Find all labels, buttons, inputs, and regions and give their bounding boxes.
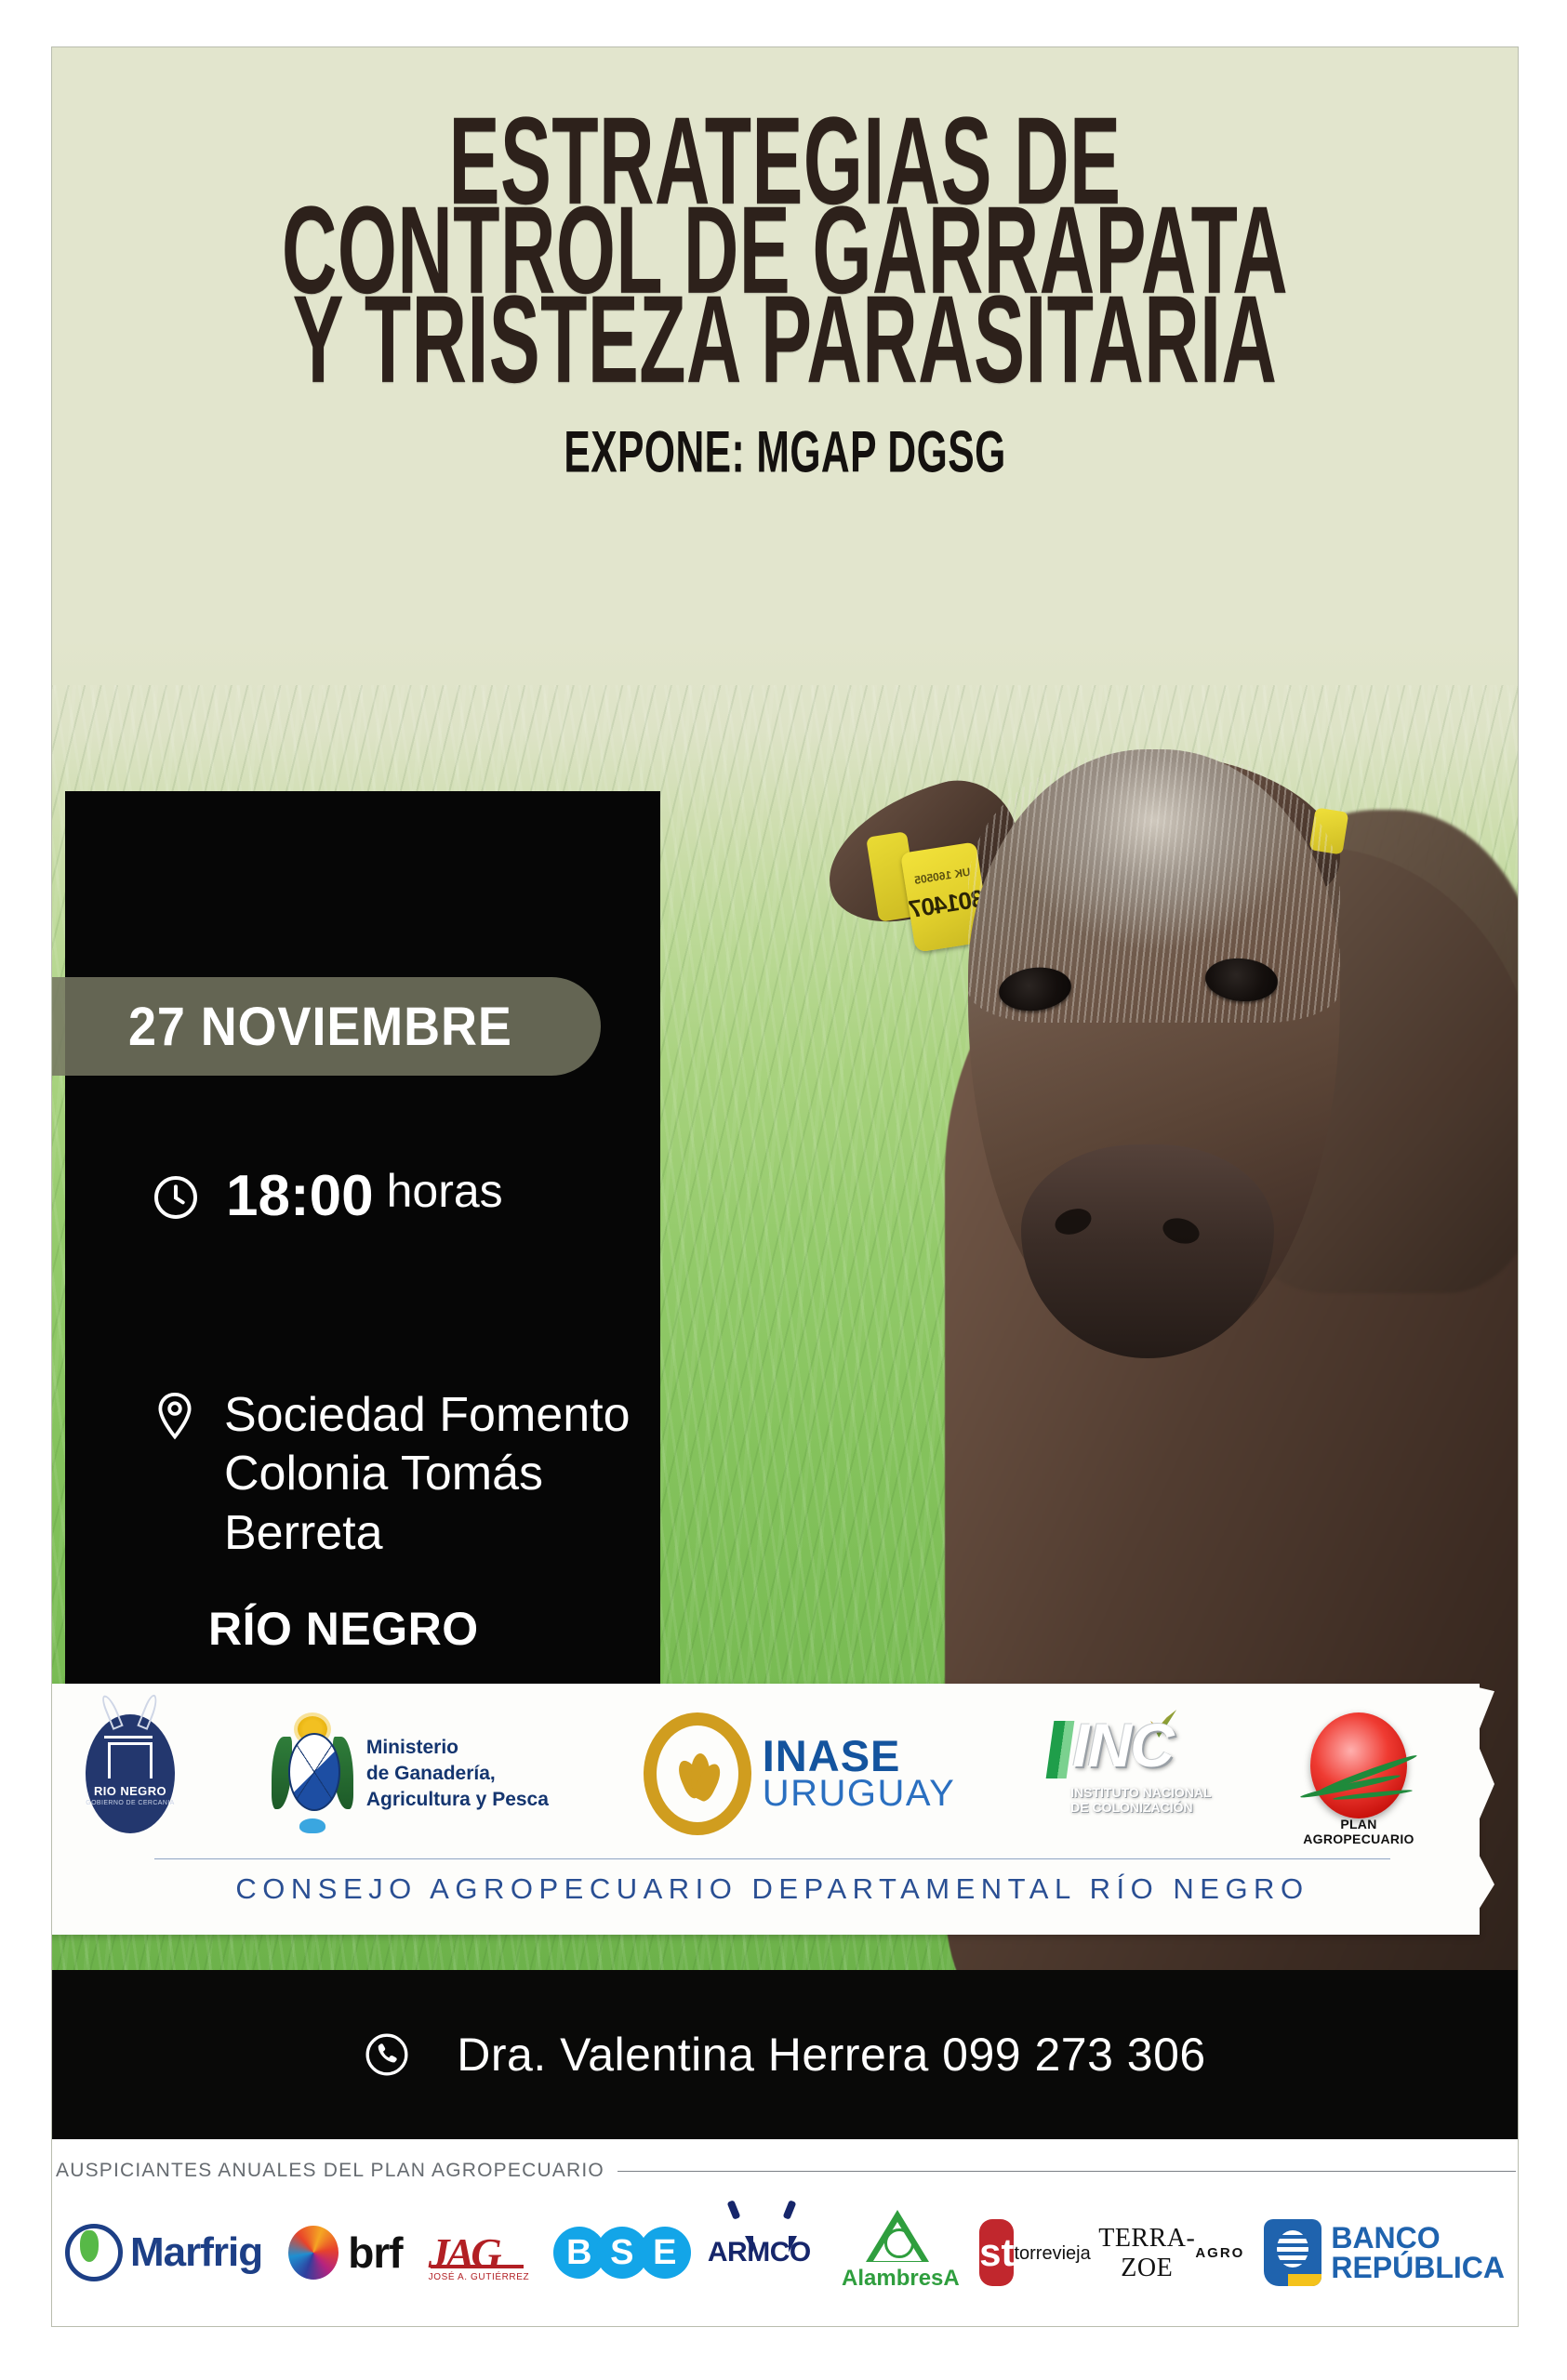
building-icon (108, 1742, 153, 1778)
council-caption: CONSEJO AGROPECUARIO DEPARTAMENTAL RÍO N… (154, 1858, 1390, 1906)
marfrig-icon (65, 2224, 123, 2281)
plan-agropecuario-label: PLAN AGROPECUARIO (1294, 1817, 1424, 1846)
marfrig-label: Marfrig (130, 2229, 262, 2276)
torrevieja-icon: st (979, 2219, 1014, 2286)
mgap-line-3: Agricultura y Pesca (366, 1787, 549, 1813)
inase-line-1: INASE (763, 1736, 956, 1777)
rio-negro-label: RIO NEGRO (94, 1784, 166, 1798)
clock-icon (150, 1171, 202, 1228)
armco-tick-right-icon (782, 2200, 796, 2220)
jag-label: JAG (429, 2228, 498, 2278)
sponsor-banco-republica: BANCO REPÚBLICA (1264, 2219, 1505, 2286)
banco-republica-icon (1264, 2219, 1321, 2286)
sponsor-logo-row: Marfrig brf JAG JOSÉ A. GUTIÉRREZ B S E … (65, 2197, 1505, 2308)
brou-line-1: BANCO (1331, 2221, 1440, 2254)
horn-left-icon (100, 1693, 123, 1730)
logo-plan-agropecuario: PLAN AGROPECUARIO (1294, 1712, 1424, 1835)
event-time-unit: horas (387, 1168, 503, 1214)
event-department: RÍO NEGRO (208, 1602, 479, 1656)
bse-letter-e: E (639, 2227, 691, 2279)
inc-sublabel: INSTITUTO NACIONAL DE COLONIZACIÓN (1070, 1786, 1211, 1815)
plan-agropecuario-emblem: PLAN AGROPECUARIO (1294, 1712, 1424, 1835)
sponsor-torrevieja: st torrevieja (979, 2206, 1072, 2299)
event-venue: Sociedad Fomento Colonia Tomás Berreta (224, 1386, 631, 1563)
logo-mgap: Ministerio de Ganadería, Agricultura y P… (270, 1712, 549, 1835)
brou-line-2: REPÚBLICA (1331, 2251, 1505, 2284)
sponsors-rule (618, 2171, 1516, 2172)
sponsor-terra-zoe: TERRA-ZOE AGRO (1098, 2208, 1238, 2297)
banco-republica-label: BANCO REPÚBLICA (1331, 2223, 1505, 2282)
logo-rio-negro: RIO NEGRO GOBIERNO DE CERCANIA (86, 1714, 175, 1833)
event-date-text: 27 NOVIEMBRE (128, 996, 512, 1058)
mgap-line-1: Ministerio (366, 1735, 549, 1761)
terra-zoe-label: TERRA-ZOE (1098, 2224, 1195, 2283)
poster-title-block: ESTRATEGIAS DE CONTROL DE GARRAPATA Y TR… (52, 103, 1518, 474)
ribbon-bow-icon (299, 1818, 325, 1833)
event-poster: UK 160505 301407 ESTRATEGIAS DE CONTROL … (51, 46, 1519, 2327)
inase-line-2: URUGUAY (763, 1777, 956, 1812)
inc-green-bar-icon (1046, 1721, 1075, 1778)
wire-coil-icon (884, 2228, 914, 2258)
institutional-logo-row: RIO NEGRO GOBIERNO DE CERCANIA Ministeri… (86, 1704, 1424, 1844)
event-date-badge: 27 NOVIEMBRE (52, 977, 601, 1076)
inc-emblem: INC INSTITUTO NACIONAL DE COLONIZACIÓN (1050, 1713, 1199, 1834)
sponsor-marfrig: Marfrig (65, 2224, 262, 2281)
inc-sub-line-2: DE COLONIZACIÓN (1070, 1800, 1192, 1815)
sponsors-heading-row: AUSPICIANTES ANUALES DEL PLAN AGROPECUAR… (52, 2160, 1518, 2182)
rio-negro-emblem: RIO NEGRO GOBIERNO DE CERCANIA (86, 1714, 175, 1833)
poster-subtitle: EXPONE: MGAP DGSG (184, 418, 1386, 486)
sponsor-jag: JAG JOSÉ A. GUTIÉRREZ (429, 2218, 527, 2287)
uruguay-coat-of-arms-icon (270, 1712, 355, 1835)
title-line-3: Y TRISTEZA PARASITARIA (199, 282, 1372, 398)
sponsor-alambresa: AlambresA (842, 2210, 953, 2295)
jag-underline (431, 2265, 524, 2268)
event-time: 18:00 (226, 1168, 374, 1225)
event-time-row: 18:00 horas (150, 1168, 503, 1228)
torrevieja-label: torrevieja (1014, 2243, 1090, 2265)
alambresa-label: AlambresA (842, 2266, 953, 2292)
armco-tick-left-icon (726, 2200, 740, 2220)
location-pin-icon (150, 1390, 200, 1448)
sponsor-brf: brf (288, 2226, 402, 2280)
mgap-label: Ministerio de Ganadería, Agricultura y P… (366, 1735, 549, 1812)
brf-label: brf (348, 2228, 402, 2278)
terra-zoe-sublabel: AGRO (1195, 2245, 1244, 2261)
sponsor-armco: ARMCO (708, 2212, 816, 2294)
event-venue-row: Sociedad Fomento Colonia Tomás Berreta (150, 1386, 631, 1563)
mgap-line-2: de Ganadería, (366, 1761, 549, 1787)
contact-bar: Dra. Valentina Herrera 099 273 306 (52, 1970, 1518, 2139)
inc-label: INC (1072, 1710, 1173, 1780)
inase-label: INASE URUGUAY (763, 1736, 956, 1812)
horn-right-icon (137, 1693, 160, 1730)
venue-line-2: Colonia Tomás (224, 1447, 543, 1501)
inase-seed-icon (644, 1712, 751, 1835)
contact-text: Dra. Valentina Herrera 099 273 306 (457, 2028, 1205, 2082)
phone-icon (364, 2031, 410, 2082)
sponsors-footer: AUSPICIANTES ANUALES DEL PLAN AGROPECUAR… (52, 2139, 1518, 2327)
venue-line-3: Berreta (224, 1506, 383, 1560)
rio-negro-sublabel: GOBIERNO DE CERCANIA (86, 1800, 175, 1806)
institutional-logo-band: RIO NEGRO GOBIERNO DE CERCANIA Ministeri… (51, 1684, 1480, 1935)
brf-icon (288, 2226, 339, 2280)
shield-icon (288, 1733, 340, 1811)
logo-inc: INC INSTITUTO NACIONAL DE COLONIZACIÓN (1050, 1713, 1199, 1834)
sponsors-heading: AUSPICIANTES ANUALES DEL PLAN AGROPECUAR… (56, 2160, 604, 2182)
jag-sublabel: JOSÉ A. GUTIÉRREZ (429, 2272, 530, 2282)
sponsor-bse: B S E (553, 2227, 682, 2279)
logo-inase: INASE URUGUAY (644, 1712, 956, 1835)
venue-line-1: Sociedad Fomento (224, 1388, 631, 1442)
event-details-panel (65, 791, 660, 1725)
inc-sub-line-1: INSTITUTO NACIONAL (1070, 1785, 1211, 1800)
